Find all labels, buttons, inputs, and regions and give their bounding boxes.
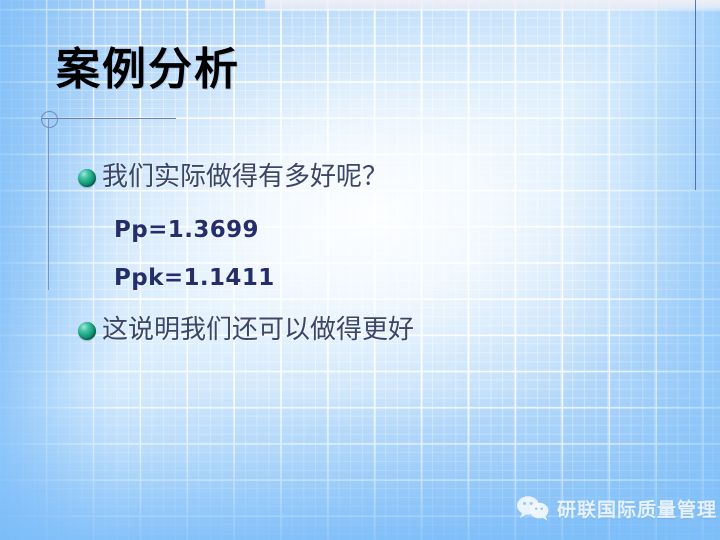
bullet-item-label: 这说明我们还可以做得更好 — [102, 313, 414, 348]
decorative-circle-icon — [41, 111, 58, 128]
watermark: 研联国际质量管理 — [516, 494, 717, 522]
bullet-item-label: 我们实际做得有多好呢？ — [102, 160, 388, 195]
slide-canvas: 案例分析 我们实际做得有多好呢？ Pp=1.3699 Ppk=1.1411 这说… — [0, 0, 720, 540]
green-sphere-bullet-icon — [78, 169, 96, 187]
bullet-item-question: 我们实际做得有多好呢？ — [78, 160, 638, 195]
wechat-icon — [516, 494, 550, 522]
bullet-item-conclusion: 这说明我们还可以做得更好 — [78, 313, 638, 348]
right-accent-line — [695, 0, 696, 190]
title-underline-rule — [42, 118, 176, 119]
slide-body: 我们实际做得有多好呢？ Pp=1.3699 Ppk=1.1411 这说明我们还可… — [78, 160, 638, 354]
stat-ppk-value: Ppk=1.1411 — [114, 265, 638, 291]
decorative-vertical-line — [48, 118, 49, 290]
watermark-label: 研联国际质量管理 — [557, 495, 717, 522]
slide-title: 案例分析 — [56, 46, 240, 94]
green-sphere-bullet-icon — [78, 322, 96, 340]
stat-pp-value: Pp=1.3699 — [114, 217, 638, 243]
top-highlight-band — [265, 0, 720, 12]
